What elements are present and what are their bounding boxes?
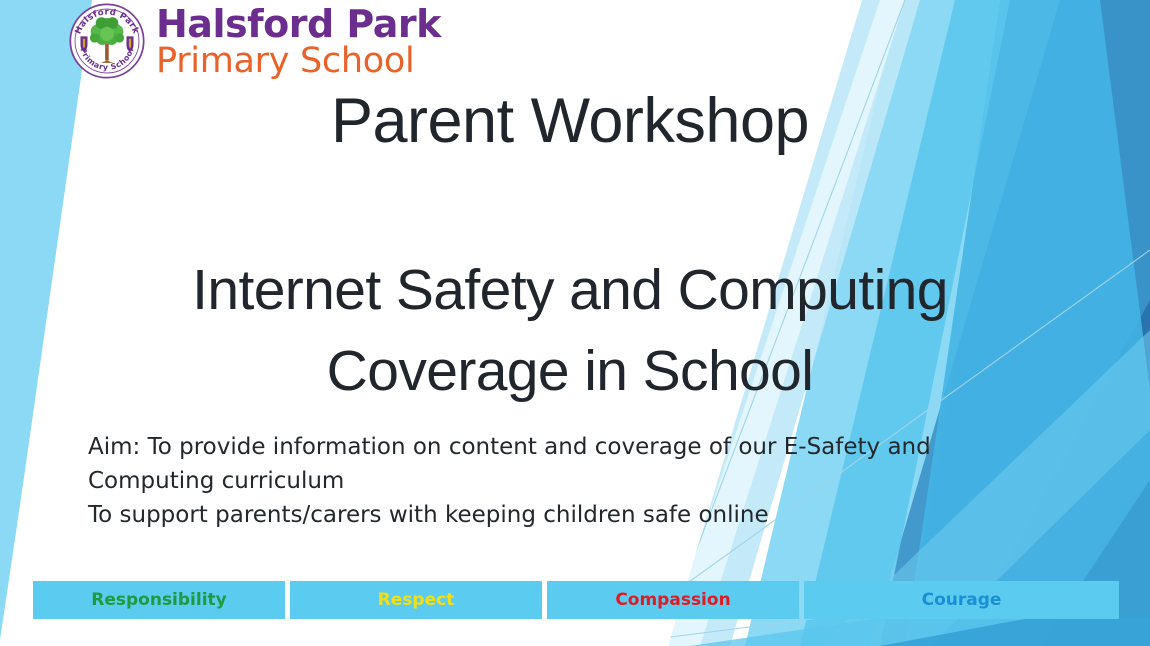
body-line-1: Aim: To provide information on content a… — [88, 430, 1048, 464]
value-cell-courage: Courage — [804, 581, 1119, 619]
value-label-compassion: Compassion — [615, 590, 730, 610]
value-cell-respect: Respect — [290, 581, 542, 619]
school-crest-icon: Halsford Park Primary School — [68, 2, 146, 80]
decor-below-bar-1 — [690, 618, 1150, 646]
decor-lower-fan-pale — [1040, 480, 1150, 646]
wordmark-line-2: Primary School — [156, 44, 441, 78]
value-label-courage: Courage — [922, 590, 1002, 610]
value-cell-compassion: Compassion — [547, 581, 799, 619]
school-values-bar: Responsibility Respect Compassion Courag… — [33, 581, 1119, 619]
value-label-respect: Respect — [378, 590, 455, 610]
decor-hairline-3 — [600, 618, 820, 646]
shield-left-inner — [83, 39, 85, 49]
slide-subtitle: Internet Safety and Computing Coverage i… — [70, 250, 1070, 412]
slide-root: Halsford Park Primary School Halsford Pa… — [0, 0, 1150, 646]
slide-title: Parent Workshop — [90, 88, 1050, 154]
body-line-3: To support parents/carers with keeping c… — [88, 498, 1048, 532]
shield-right-inner — [129, 39, 131, 49]
slide-subtitle-line-1: Internet Safety and Computing — [70, 250, 1070, 331]
value-cell-responsibility: Responsibility — [33, 581, 285, 619]
body-line-2: Computing curriculum — [88, 464, 1048, 498]
school-logo: Halsford Park Primary School Halsford Pa… — [68, 2, 441, 80]
value-label-responsibility: Responsibility — [91, 590, 227, 610]
wordmark-line-1: Halsford Park — [156, 6, 441, 43]
decor-below-bar-2 — [880, 618, 1150, 646]
school-wordmark: Halsford Park Primary School — [156, 6, 441, 79]
slide-subtitle-line-2: Coverage in School — [70, 331, 1070, 412]
slide-body-text: Aim: To provide information on content a… — [88, 430, 1048, 532]
